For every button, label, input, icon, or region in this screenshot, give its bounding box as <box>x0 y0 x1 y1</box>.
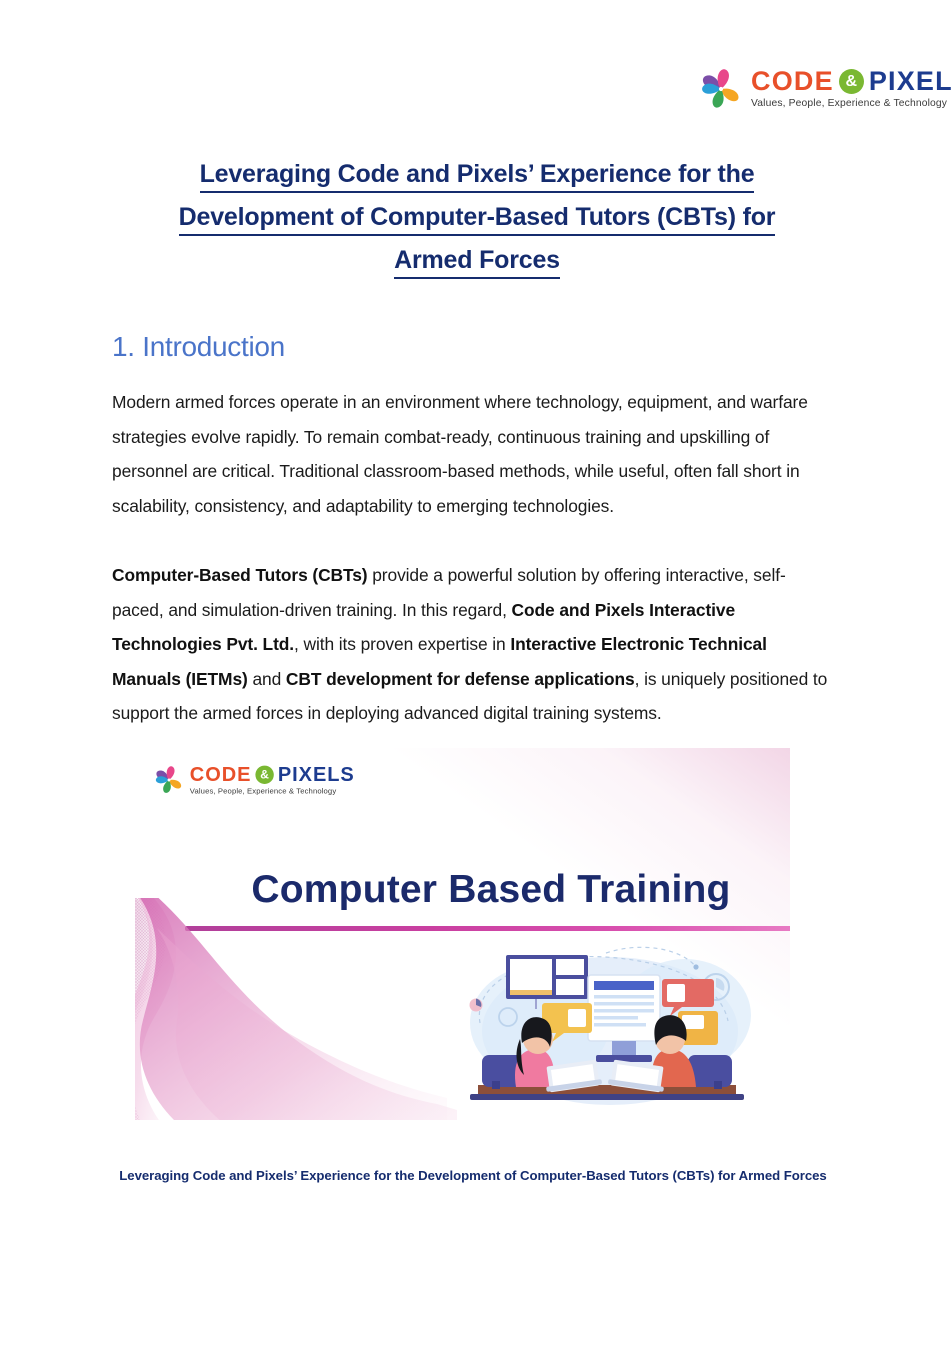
figure-computer-based-training: CODE & PIXELS Values, People, Experience… <box>135 748 790 1120</box>
document-page: CODE & PIXELS Values, People, Experience… <box>0 0 952 1347</box>
figure-logo-text: CODE & PIXELS Values, People, Experience… <box>190 765 355 796</box>
document-title: Leveraging Code and Pixels’ Experience f… <box>118 153 836 282</box>
logo-tagline: Values, People, Experience & Technology <box>751 99 952 109</box>
logo-pixels-text: PIXELS <box>869 68 952 95</box>
emphasis-cbt-defense: CBT development for defense applications <box>286 669 635 689</box>
header-logo: CODE & PIXELS Values, People, Experience… <box>698 58 930 120</box>
figure-logo-wordmark: CODE & PIXELS <box>190 765 355 785</box>
figure-caption-line-2: Armed Forces <box>739 1168 827 1183</box>
paragraph-intro-2: Computer-Based Tutors (CBTs) provide a p… <box>112 558 834 731</box>
pinwheel-icon <box>698 66 744 112</box>
title-line-1: Leveraging Code and Pixels’ Experience f… <box>118 153 836 196</box>
paragraph-text-2: , with its proven expertise in <box>294 634 510 654</box>
figure-logo-code-text: CODE <box>190 765 252 785</box>
figure-caption: Leveraging Code and Pixels’ Experience f… <box>112 1163 834 1188</box>
pink-ribbon-decoration <box>135 898 457 1120</box>
title-line-3: Armed Forces <box>118 239 836 282</box>
paragraph-text-3: and <box>248 669 286 689</box>
figure-caption-line-1: Leveraging Code and Pixels’ Experience f… <box>119 1168 735 1183</box>
section-heading-introduction: 1. Introduction <box>112 331 285 363</box>
figure-logo: CODE & PIXELS Values, People, Experience… <box>153 764 355 796</box>
emphasis-cbt: Computer-Based Tutors (CBTs) <box>112 565 368 585</box>
figure-logo-ampersand-badge: & <box>255 765 273 783</box>
cbt-illustration <box>420 943 790 1118</box>
title-line-2: Development of Computer-Based Tutors (CB… <box>118 196 836 239</box>
logo-text: CODE & PIXELS Values, People, Experience… <box>751 68 952 109</box>
figure-logo-tagline: Values, People, Experience & Technology <box>190 788 355 796</box>
logo-wordmark: CODE & PIXELS <box>751 68 952 95</box>
paragraph-intro-1: Modern armed forces operate in an enviro… <box>112 385 834 523</box>
logo-ampersand-badge: & <box>839 69 864 94</box>
figure-logo-pixels-text: PIXELS <box>278 765 355 785</box>
pinwheel-icon <box>153 764 185 796</box>
logo-code-text: CODE <box>751 68 834 95</box>
